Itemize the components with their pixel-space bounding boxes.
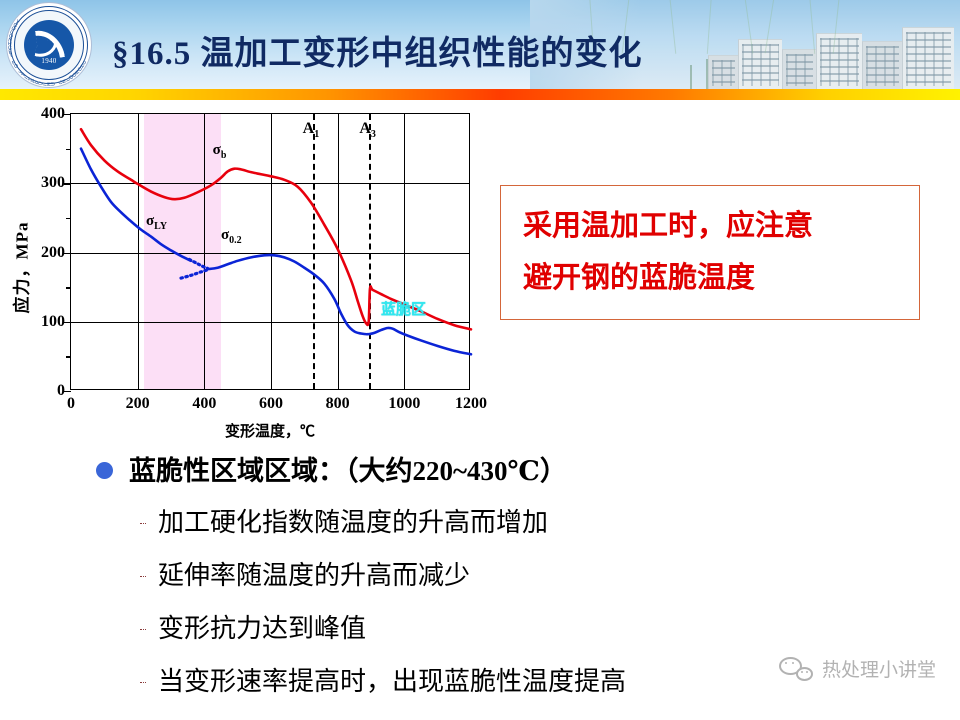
watermark: 热处理小讲堂	[779, 655, 936, 682]
bullet-sub-items: 加工硬化指数随温度的升高而增加延伸率随温度的升高而减少变形抗力达到峰值当变形速率…	[96, 503, 856, 702]
x-tick-label: 800	[326, 395, 350, 413]
chart-annotation: 蓝脆区	[381, 298, 426, 319]
curve-σ0.2-cont	[208, 255, 471, 354]
curve-σ0.2	[81, 149, 191, 261]
wechat-dot	[806, 671, 808, 673]
y-tick-label: 100	[41, 313, 65, 331]
y-tick-label: 200	[41, 244, 65, 262]
y-tick-label: 300	[41, 174, 65, 192]
bullet-sub-row: 加工硬化指数随温度的升高而增加	[140, 503, 856, 543]
wechat-dot	[792, 662, 794, 664]
bullet-sub-marker-icon	[140, 523, 146, 529]
header-banner: 1940 CHONGQING UNIVERSITY OF TECHNOLOGY …	[0, 0, 960, 89]
bullet-sub-row: 当变形速率提高时，出现蓝脆性温度提高	[140, 662, 856, 702]
y-tick-label: 400	[41, 105, 65, 123]
chart-y-axis-label: 应力，MPa	[8, 198, 33, 338]
page-title: §16.5 温加工变形中组织性能的变化	[112, 28, 832, 80]
bullet-sub-text: 加工硬化指数随温度的升高而增加	[158, 503, 548, 543]
y-tick-mark	[64, 322, 71, 323]
university-logo-icon: 1940 CHONGQING UNIVERSITY OF TECHNOLOGY	[6, 2, 92, 88]
stress-temperature-chart: 应力，MPa A1A3 0100200300400020040060080010…	[0, 100, 490, 440]
building	[902, 27, 954, 89]
x-tick-label: 400	[192, 395, 216, 413]
y-tick-mark	[64, 253, 71, 254]
y-tick-label: 0	[57, 382, 65, 400]
chart-annotation: σLY	[146, 213, 167, 232]
wechat-icon	[779, 657, 813, 681]
y-tick-mark	[64, 391, 71, 392]
wechat-dot	[785, 662, 787, 664]
gradient-divider	[0, 89, 960, 100]
bullet-lead-row: 蓝脆性区域区域：（大约220~430℃）	[96, 452, 856, 490]
building	[862, 41, 902, 89]
x-tick-label: 1000	[388, 395, 420, 413]
bullet-sub-row: 延伸率随温度的升高而减少	[140, 556, 856, 596]
chart-curves	[71, 114, 471, 391]
wechat-bubble-small	[796, 667, 813, 681]
chart-x-axis-label: 变形温度，℃	[70, 420, 470, 441]
chart-annotation: σb	[213, 142, 227, 161]
y-tick-mark	[64, 114, 71, 115]
bullet-sub-text: 延伸率随温度的升高而减少	[158, 556, 470, 596]
chart-annotation: σ0.2	[221, 227, 242, 246]
bullet-dot-icon	[96, 462, 113, 479]
bullet-sub-text: 当变形速率提高时，出现蓝脆性温度提高	[158, 662, 626, 702]
chart-plot-area: A1A3 0100200300400020040060080010001200 …	[70, 113, 470, 390]
bullet-sub-marker-icon	[140, 576, 146, 582]
bullet-sub-marker-icon	[140, 682, 146, 688]
x-tick-label: 200	[126, 395, 150, 413]
y-tick-mark	[64, 183, 71, 184]
x-tick-label: 600	[259, 395, 283, 413]
bullet-sub-row: 变形抗力达到峰值	[140, 609, 856, 649]
slide: 1940 CHONGQING UNIVERSITY OF TECHNOLOGY …	[0, 0, 960, 720]
callout-line-2: 避开钢的蓝脆温度	[523, 252, 899, 304]
x-tick-label: 1200	[455, 395, 487, 413]
bullet-sub-marker-icon	[140, 629, 146, 635]
curve-σ0.2-dashed-lower	[181, 270, 208, 278]
x-tick-label: 0	[67, 395, 75, 413]
callout-line-1: 采用温加工时，应注意	[523, 200, 899, 252]
logo-arc-text: CHONGQING UNIVERSITY OF TECHNOLOGY	[7, 3, 91, 87]
bullet-list: 蓝脆性区域区域：（大约220~430℃） 加工硬化指数随温度的升高而增加延伸率随…	[96, 452, 856, 702]
watermark-text: 热处理小讲堂	[822, 655, 936, 682]
bullet-lead-text: 蓝脆性区域区域：（大约220~430℃）	[129, 452, 567, 490]
callout-box: 采用温加工时，应注意 避开钢的蓝脆温度	[500, 185, 920, 320]
bullet-sub-text: 变形抗力达到峰值	[158, 609, 366, 649]
wechat-dot	[801, 671, 803, 673]
